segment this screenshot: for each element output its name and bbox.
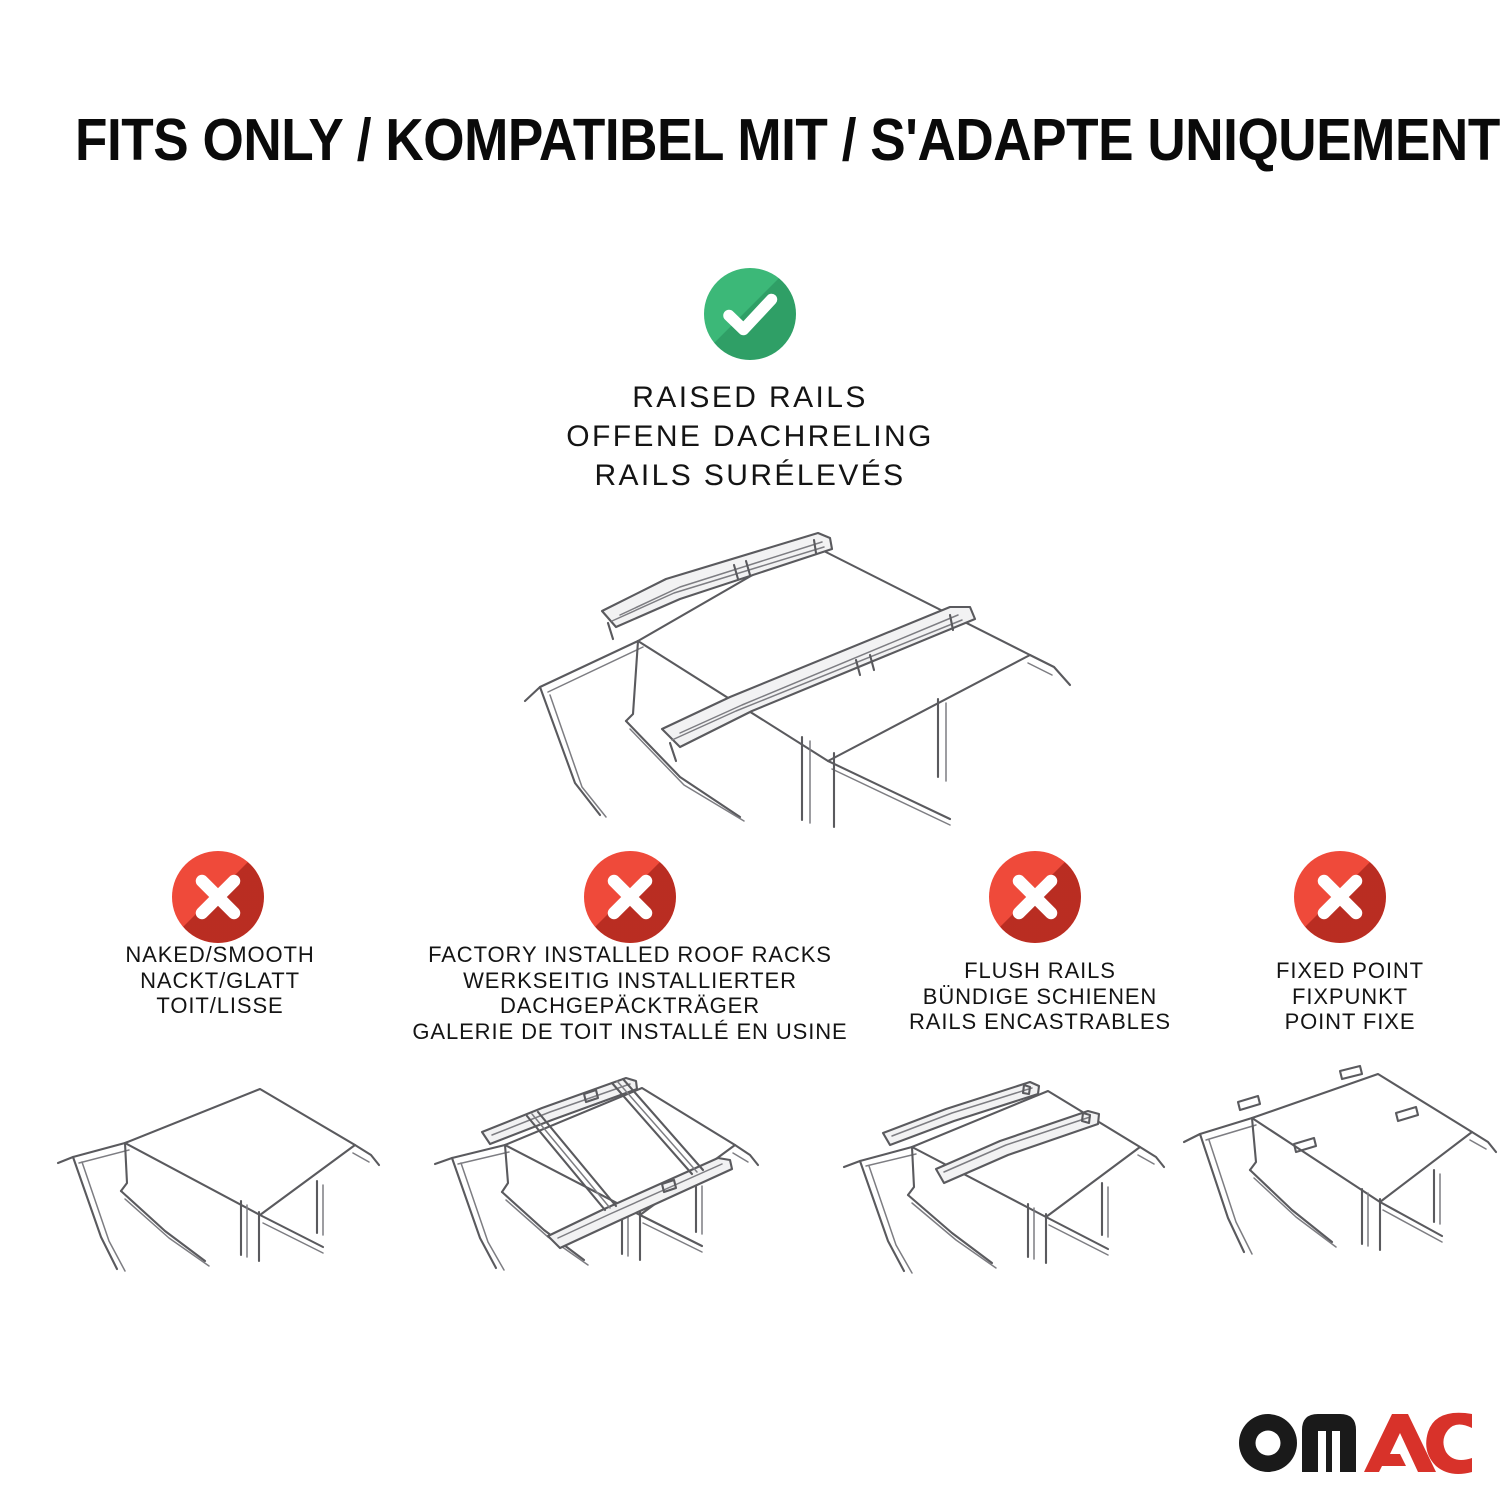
label-line-2: FIXPUNKT xyxy=(1215,984,1485,1010)
incompatible-label-naked-smooth: NAKED/SMOOTH NACKT/GLATT TOIT/LISSE xyxy=(30,942,410,1019)
label-line-3: RAILS ENCASTRABLES xyxy=(855,1009,1225,1035)
x-circle-icon-naked-smooth xyxy=(172,851,264,943)
incompatible-label-fixed-point: FIXED POINT FIXPUNKT POINT FIXE xyxy=(1215,958,1485,1035)
logo-letter-c xyxy=(1426,1413,1472,1474)
car-roof-factory-racks-drawing xyxy=(430,1050,760,1290)
omac-logo xyxy=(1236,1404,1472,1474)
check-circle-icon xyxy=(704,268,796,360)
compatible-label-line-3: RAILS SURÉLEVÉS xyxy=(0,456,1500,495)
label-line-4: GALERIE DE TOIT INSTALLÉ EN USINE xyxy=(400,1019,860,1045)
compatible-label-line-1: RAISED RAILS xyxy=(0,378,1500,417)
compatible-label: RAISED RAILS OFFENE DACHRELING RAILS SUR… xyxy=(0,378,1500,495)
label-line-1: NAKED/SMOOTH xyxy=(30,942,410,968)
fitment-infographic: FITS ONLY / KOMPATIBEL MIT / S'ADAPTE UN… xyxy=(0,0,1500,1500)
label-line-1: FACTORY INSTALLED ROOF RACKS xyxy=(400,942,860,968)
label-line-1: FIXED POINT xyxy=(1215,958,1485,984)
car-roof-naked-drawing xyxy=(55,1065,385,1290)
logo-letter-a xyxy=(1364,1414,1436,1472)
x-circle-icon-flush-rails xyxy=(989,851,1081,943)
page-title: FITS ONLY / KOMPATIBEL MIT / S'ADAPTE UN… xyxy=(75,108,1425,172)
car-roof-raised-rails-drawing xyxy=(430,515,1090,825)
x-circle-icon-factory-roof-racks xyxy=(584,851,676,943)
car-roof-flush-rails-drawing xyxy=(840,1065,1170,1290)
label-line-1: FLUSH RAILS xyxy=(855,958,1225,984)
label-line-3: DACHGEPÄCKTRÄGER xyxy=(400,993,860,1019)
car-roof-fixed-point-drawing xyxy=(1180,1058,1500,1288)
compatible-label-line-2: OFFENE DACHRELING xyxy=(0,417,1500,456)
label-line-2: NACKT/GLATT xyxy=(30,968,410,994)
label-line-2: BÜNDIGE SCHIENEN xyxy=(855,984,1225,1010)
incompatible-label-factory-roof-racks: FACTORY INSTALLED ROOF RACKS WERKSEITIG … xyxy=(400,942,860,1044)
incompatible-label-flush-rails: FLUSH RAILS BÜNDIGE SCHIENEN RAILS ENCAS… xyxy=(855,958,1225,1035)
label-line-2: WERKSEITIG INSTALLIERTER xyxy=(400,968,860,994)
label-line-3: POINT FIXE xyxy=(1215,1009,1485,1035)
x-circle-icon-fixed-point xyxy=(1294,851,1386,943)
logo-letter-m xyxy=(1302,1414,1356,1472)
label-line-3: TOIT/LISSE xyxy=(30,993,410,1019)
